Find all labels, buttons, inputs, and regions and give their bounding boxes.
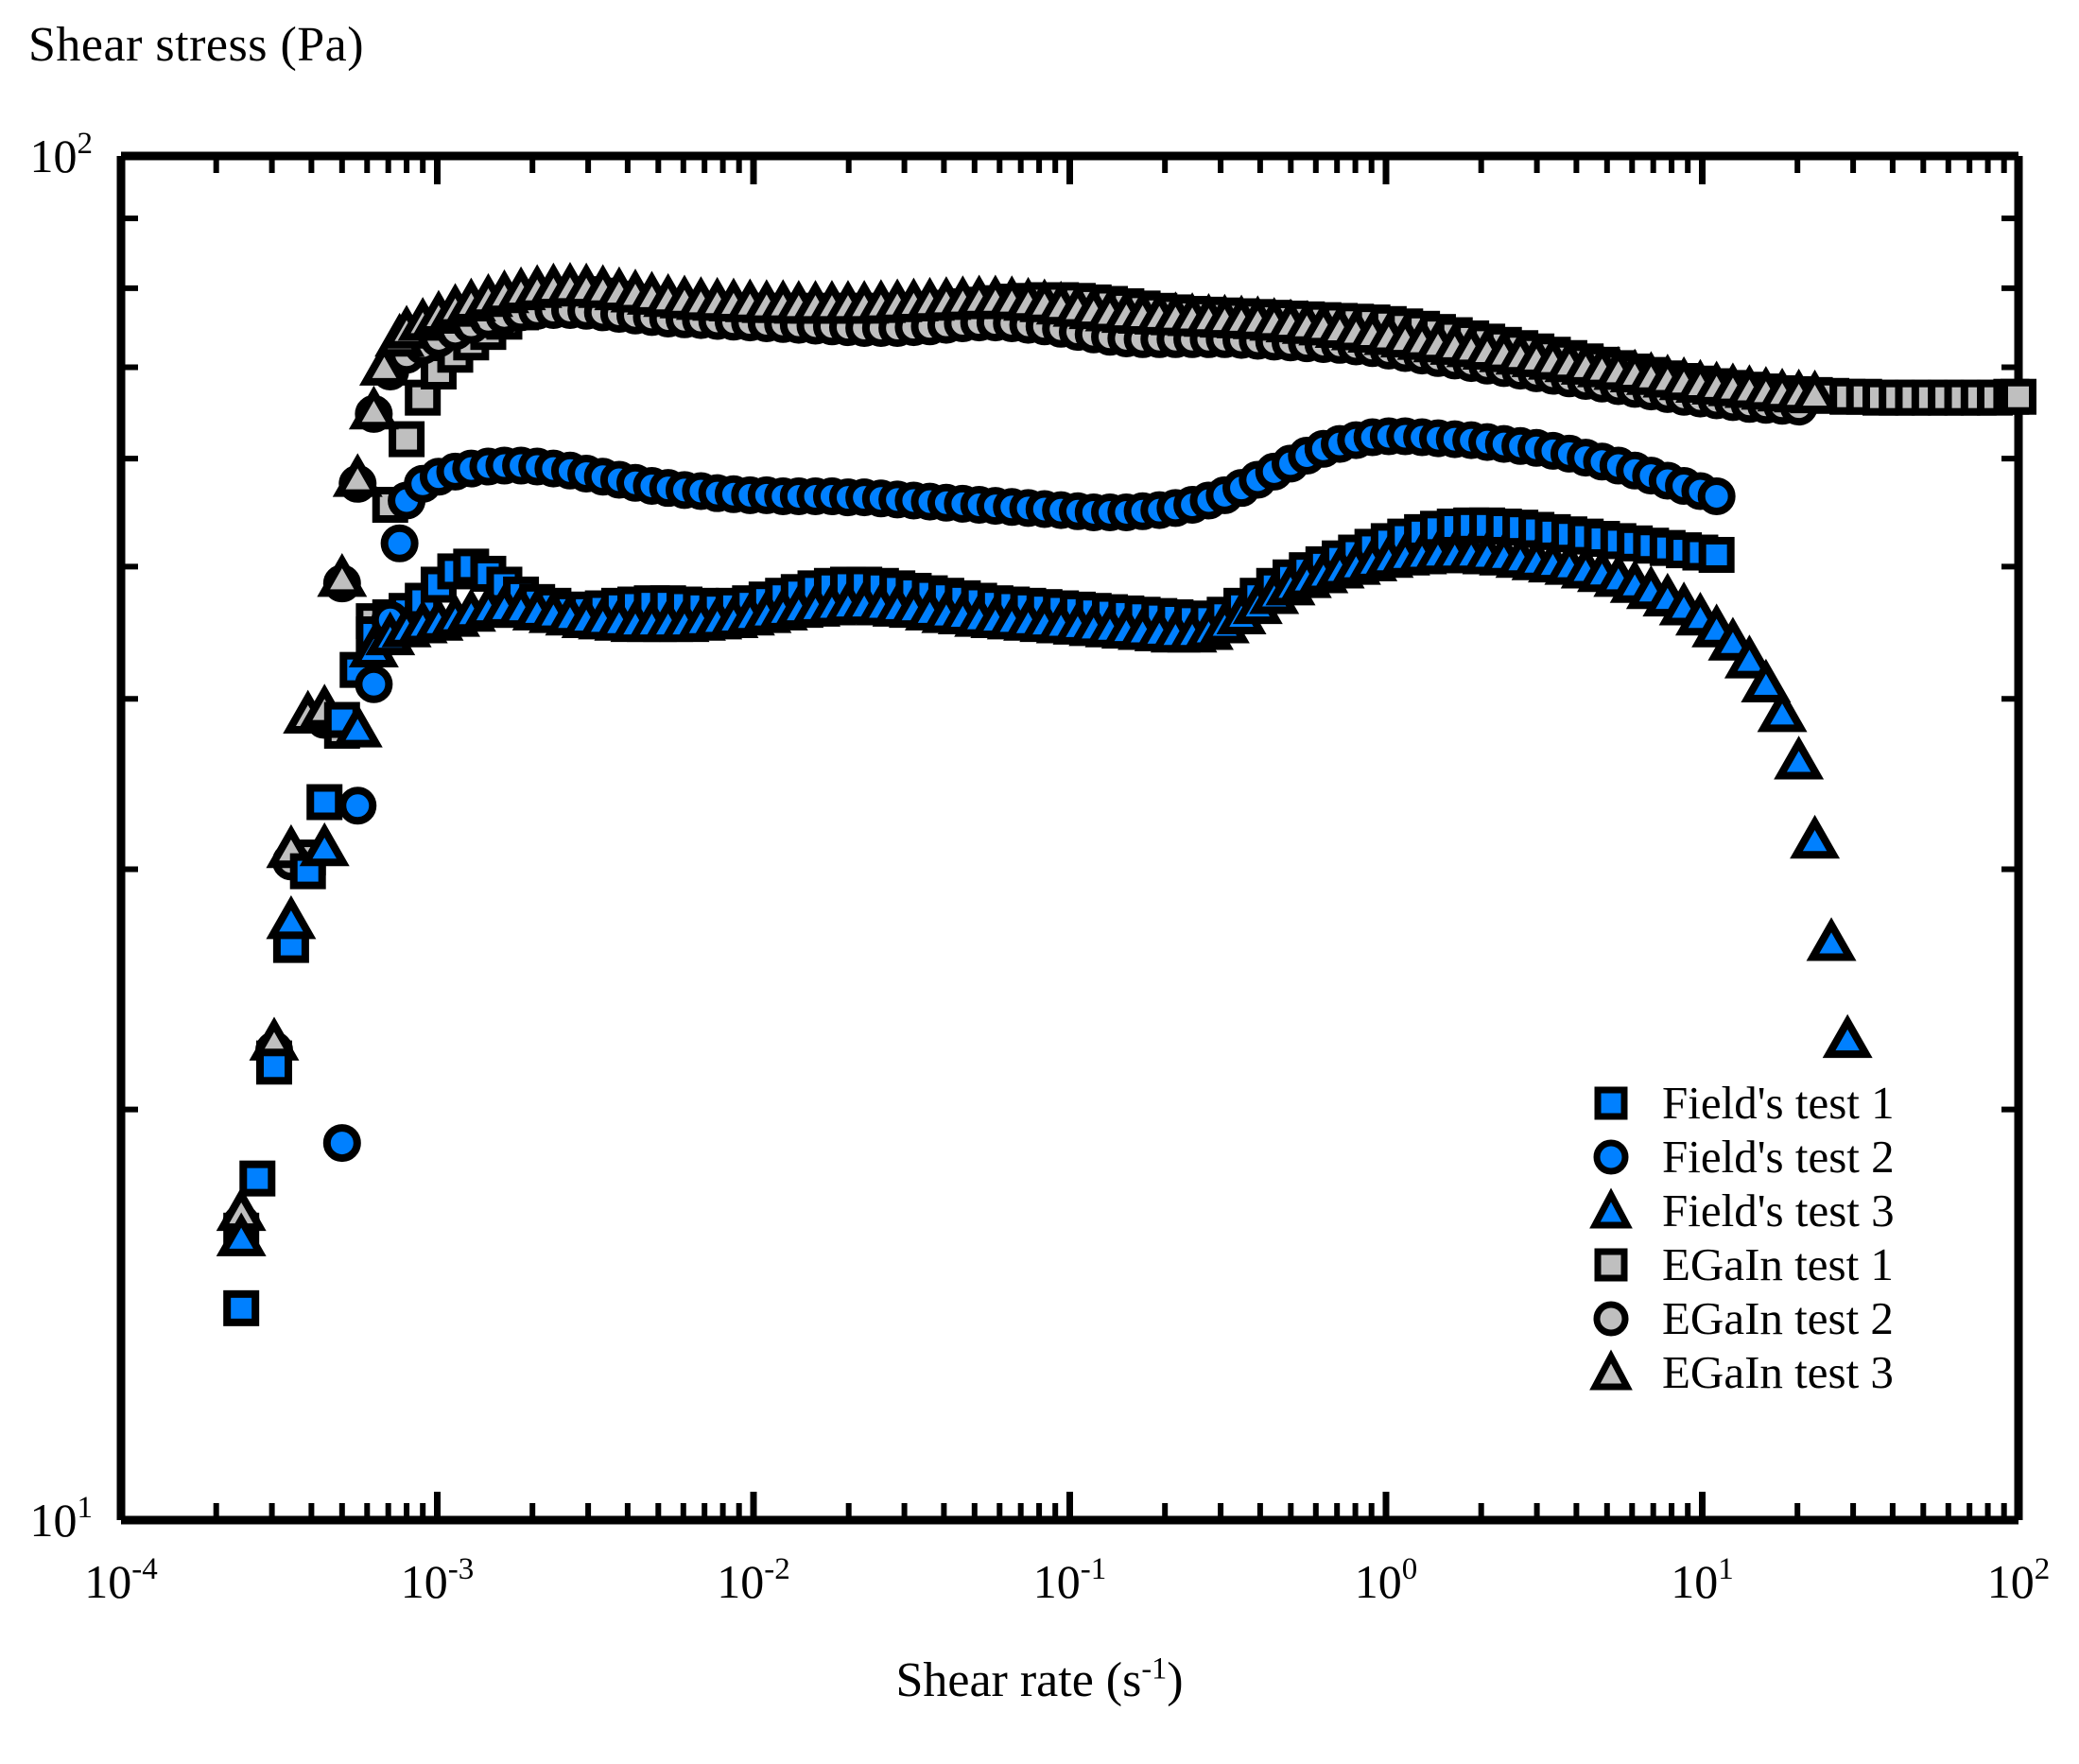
y-tick-label: 101 xyxy=(30,1491,94,1547)
legend-marker xyxy=(1581,1295,1641,1342)
legend-marker xyxy=(1581,1349,1641,1396)
legend-item[interactable]: Field's test 1 xyxy=(1581,1076,1895,1130)
data-point xyxy=(227,1294,255,1323)
data-point xyxy=(306,830,343,862)
triangle-marker-icon xyxy=(1595,1195,1627,1225)
data-point xyxy=(323,561,360,593)
x-tick-label: 100 xyxy=(1355,1552,1418,1608)
legend-label: Field's test 3 xyxy=(1662,1184,1895,1237)
data-point xyxy=(339,460,376,493)
legend-item[interactable]: EGaIn test 2 xyxy=(1581,1291,1895,1345)
legend-item[interactable]: Field's test 3 xyxy=(1581,1184,1895,1237)
data-point xyxy=(243,1165,271,1193)
legend-marker xyxy=(1581,1187,1641,1235)
chart-legend: Field's test 1Field's test 2Field's test… xyxy=(1581,1076,1895,1399)
plot-canvas: 10-410-310-210-1100101102101102 xyxy=(0,0,2079,1764)
legend-item[interactable]: EGaIn test 1 xyxy=(1581,1237,1895,1291)
legend-label: Field's test 1 xyxy=(1662,1076,1895,1130)
x-axis-title-close: ) xyxy=(1167,1653,1183,1707)
data-point xyxy=(355,393,392,425)
triangle-marker-icon xyxy=(1595,1357,1627,1387)
legend-label: EGaIn test 2 xyxy=(1662,1291,1894,1345)
square-marker-icon xyxy=(1598,1090,1624,1116)
legend-marker xyxy=(1581,1133,1641,1181)
data-point xyxy=(1780,743,1817,775)
circle-marker-icon xyxy=(1597,1143,1625,1171)
square-marker-icon xyxy=(1598,1252,1624,1278)
x-axis-title-base: Shear rate (s xyxy=(895,1653,1141,1707)
legend-item[interactable]: Field's test 2 xyxy=(1581,1130,1895,1184)
data-point xyxy=(327,1128,357,1158)
legend-label: EGaIn test 3 xyxy=(1662,1345,1894,1399)
data-point xyxy=(1812,925,1849,957)
circle-marker-icon xyxy=(1597,1305,1625,1333)
legend-marker xyxy=(1581,1080,1641,1127)
data-point xyxy=(2004,383,2033,411)
x-tick-label: 10-2 xyxy=(717,1552,790,1608)
data-point xyxy=(272,903,309,935)
data-point xyxy=(310,787,338,816)
legend-marker xyxy=(1581,1241,1641,1288)
data-point xyxy=(260,1052,288,1081)
x-axis-title: Shear rate (s-1) xyxy=(0,1652,2079,1708)
legend-item[interactable]: EGaIn test 3 xyxy=(1581,1345,1895,1399)
data-point xyxy=(358,669,389,700)
legend-label: EGaIn test 1 xyxy=(1662,1237,1894,1291)
legend-label: Field's test 2 xyxy=(1662,1130,1895,1184)
x-tick-label: 10-4 xyxy=(84,1552,158,1608)
data-point xyxy=(342,790,372,821)
data-point xyxy=(1703,541,1731,569)
x-axis-title-exponent: -1 xyxy=(1141,1652,1167,1686)
data-point xyxy=(385,528,415,559)
chart-root: Shear stress (Pa) 10-410-310-210-1100101… xyxy=(0,0,2079,1764)
y-tick-label: 102 xyxy=(30,127,94,182)
data-point xyxy=(1829,1022,1866,1054)
data-point xyxy=(1796,822,1833,855)
x-tick-label: 10-3 xyxy=(401,1552,475,1608)
x-tick-label: 101 xyxy=(1671,1552,1734,1608)
x-tick-label: 102 xyxy=(1987,1552,2051,1608)
data-point xyxy=(1702,481,1732,511)
x-tick-label: 10-1 xyxy=(1033,1552,1107,1608)
